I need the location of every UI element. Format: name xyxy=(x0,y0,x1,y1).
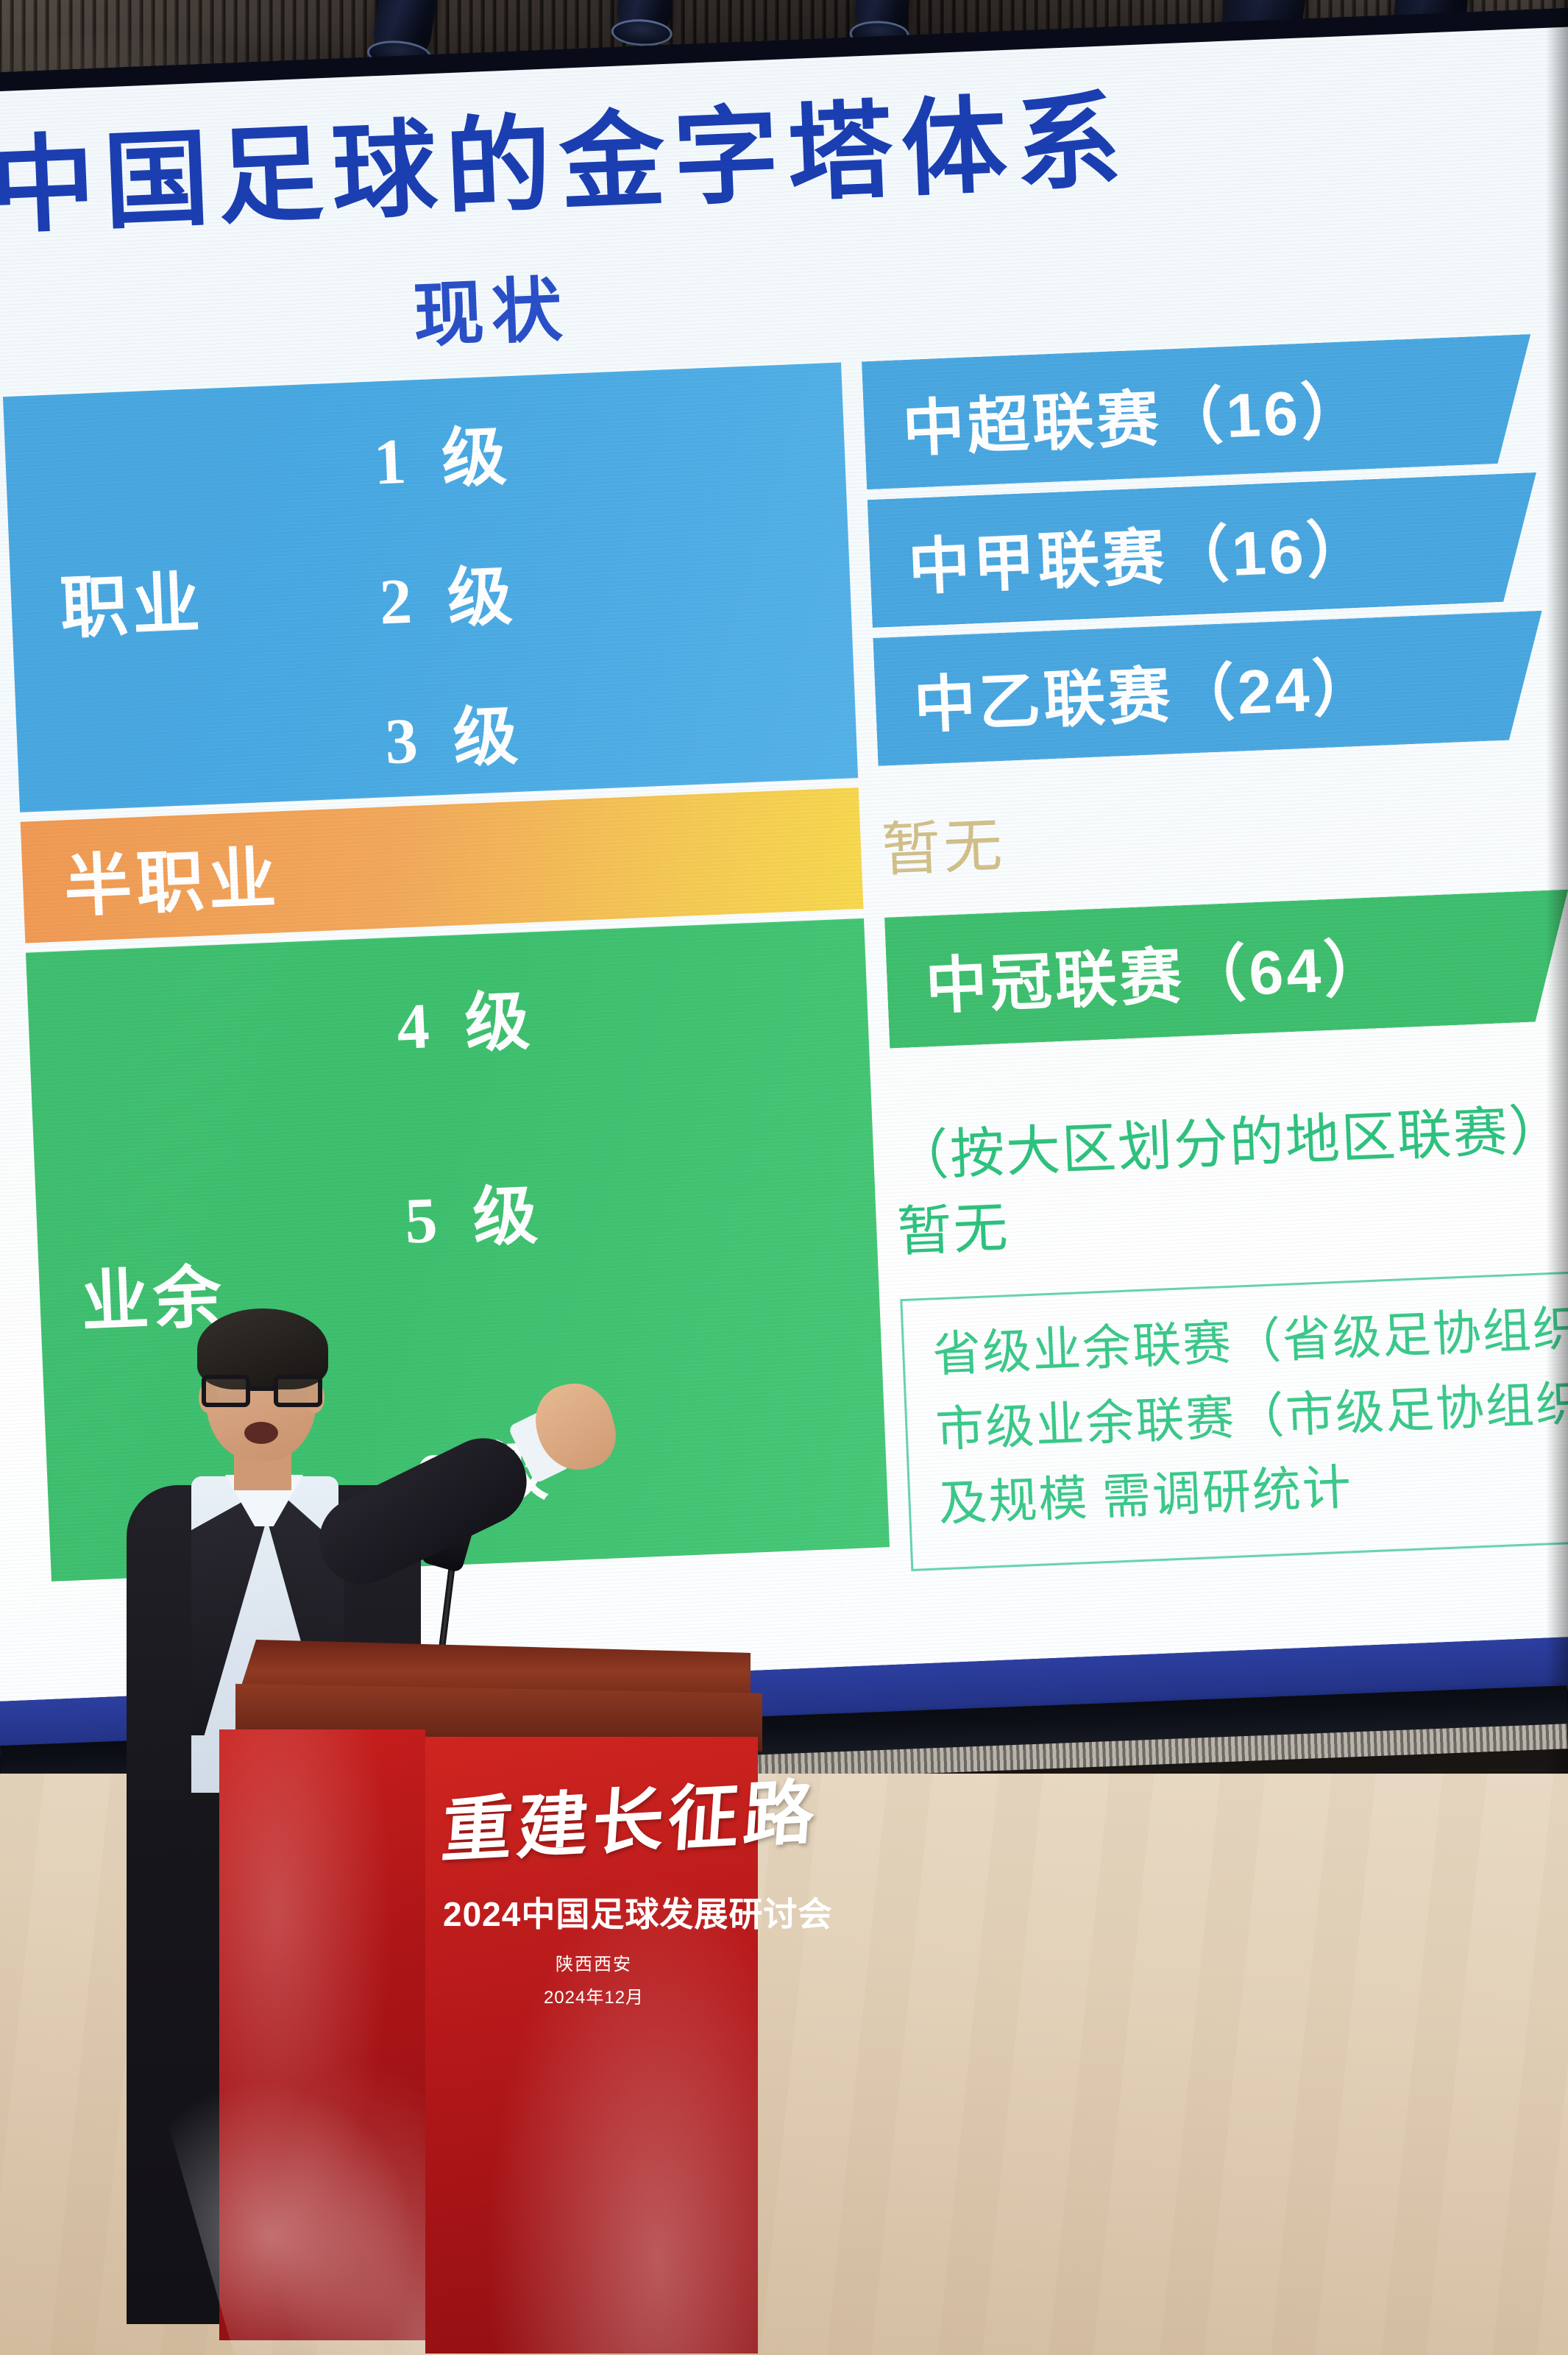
slide-title: 中国足球的金字塔体系 xyxy=(0,88,1132,241)
semi-pro-status-text: 暂无 xyxy=(880,798,1007,888)
level-row-2: 2 级 xyxy=(377,544,523,643)
level-unit-3: 级 xyxy=(452,698,528,774)
eyeglasses-icon xyxy=(202,1375,322,1407)
level-row-3: 3 级 xyxy=(383,683,529,782)
right-edge-vignette xyxy=(1546,0,1568,1796)
pyramid-table: 职业 半职业 业余 1 级 2 级 xyxy=(3,331,1568,397)
podium-branding: 重建长征路 2024中国足球发展研讨会 陕西西安 2024年12月 xyxy=(443,1766,745,2008)
level-number-4: 4 xyxy=(396,991,440,1063)
level-unit-5: 级 xyxy=(472,1178,548,1254)
stage-light-icon xyxy=(370,0,439,63)
speaker-mouth xyxy=(244,1422,278,1444)
level-unit-2: 级 xyxy=(446,559,522,635)
level5-note: （按大区划分的地区联赛） 暂无 xyxy=(893,1093,1568,1270)
level-unit-4: 级 xyxy=(464,984,540,1060)
tier-label-professional: 职业 xyxy=(58,548,206,651)
league-banner-china-league-one: 中甲联赛（16） xyxy=(868,472,1542,628)
slide-subtitle: 现状 xyxy=(411,252,572,361)
level-row-5: 5 级 xyxy=(402,1163,548,1262)
level-row-1: 1 级 xyxy=(372,404,517,503)
level-number-3: 3 xyxy=(384,705,428,778)
event-date: 2024年12月 xyxy=(443,1983,745,2008)
amateur-note-box: 省级业余联赛（省级足协组织） 市级业余联赛（市级足协组织） 及规模 需调研统计 xyxy=(900,1264,1568,1571)
level-number-5: 5 xyxy=(403,1185,447,1258)
league-banner-csl: 中超联赛（16） xyxy=(862,334,1536,489)
level-number-1: 1 xyxy=(372,425,416,498)
event-calligraphy-title: 重建长征路 xyxy=(439,1758,749,1876)
event-location: 陕西西安 xyxy=(443,1949,745,1975)
speaker-podium: 重建长征路 2024中国足球发展研讨会 陕西西安 2024年12月 xyxy=(235,1640,817,2355)
tier-label-semi-professional: 半职业 xyxy=(62,823,282,929)
conference-stage-photo: 中国足球的金字塔体系 现状 职业 半职业 业余 1 xyxy=(0,0,1568,2355)
stage-light-icon xyxy=(614,0,676,40)
event-conference-name: 2024中国足球发展研讨会 xyxy=(443,1888,745,1936)
tier-block-semi-professional: 半职业 xyxy=(21,787,864,943)
level-number-2: 2 xyxy=(378,565,422,638)
league-banner-cmcl: 中冠联赛（64） xyxy=(884,890,1568,1049)
league-banner-china-league-two: 中乙联赛（24） xyxy=(873,611,1547,766)
level-unit-1: 级 xyxy=(440,419,517,495)
podium-panel-left xyxy=(219,1729,425,2340)
level-row-4: 4 级 xyxy=(395,968,541,1068)
